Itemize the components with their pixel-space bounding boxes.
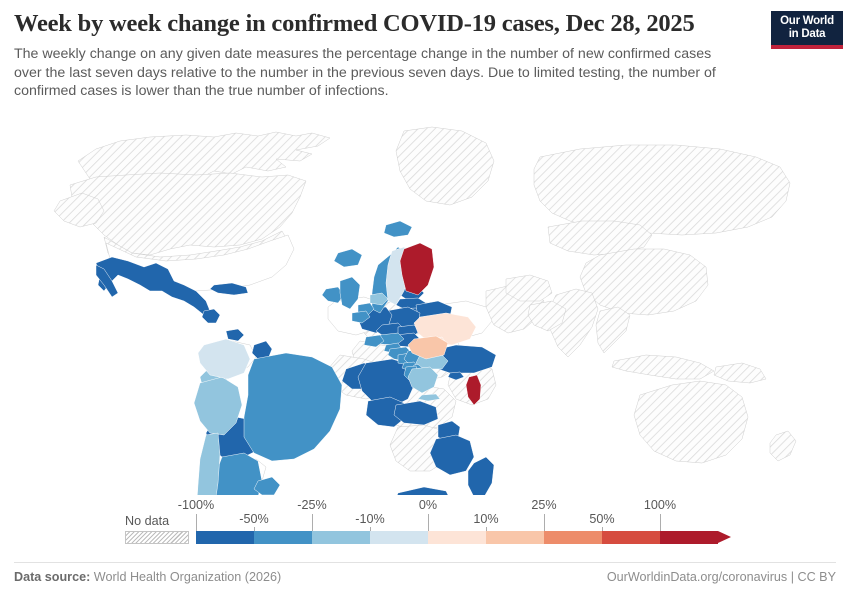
license-note[interactable]: OurWorldinData.org/coronavirus | CC BY	[607, 570, 836, 584]
legend-tick-6	[544, 514, 545, 531]
legend-tick-2	[312, 514, 313, 531]
country-mongolia-china	[580, 249, 708, 315]
legend-tick-1	[254, 527, 255, 531]
country-south-africa	[392, 487, 452, 495]
country-southeast-asia	[596, 307, 630, 353]
legend-label-5: 10%	[473, 512, 498, 526]
legend-open-end-arrow	[718, 531, 731, 543]
legend-label-1: -50%	[239, 512, 268, 526]
country-chile	[192, 433, 220, 495]
country-panama	[226, 329, 244, 341]
legend-tick-4	[428, 514, 429, 531]
country-tanzania	[430, 435, 474, 475]
legend-bin-0[interactable]	[196, 531, 254, 544]
legend-no-data-label: No data	[125, 514, 169, 528]
country-iceland	[334, 249, 362, 267]
legend-label-2: -25%	[297, 498, 326, 512]
legend-tick-0	[196, 514, 197, 531]
country-new-zealand	[770, 431, 796, 461]
page-subtitle: The weekly change on any given date meas…	[14, 45, 742, 101]
legend-tick-7	[602, 527, 603, 531]
legend-tick-8	[660, 514, 661, 531]
legend-label-3: -10%	[355, 512, 384, 526]
map-legend: No data -100%-50%-25%-10%0%10%25%50%100%	[0, 498, 850, 554]
country-papua-new-guinea	[714, 363, 766, 383]
legend-label-7: 50%	[589, 512, 614, 526]
choropleth-map[interactable]	[0, 105, 850, 495]
page-title: Week by week change in confirmed COVID-1…	[14, 9, 754, 39]
legend-bin-4[interactable]	[428, 531, 486, 544]
country-finland	[400, 243, 434, 295]
logo-line-2: in Data	[789, 29, 826, 41]
legend-label-6: 25%	[531, 498, 556, 512]
legend-label-8: 100%	[644, 498, 676, 512]
legend-bin-7[interactable]	[602, 531, 660, 544]
country-russia	[534, 145, 790, 235]
data-source-value: World Health Organization (2026)	[94, 570, 281, 584]
country-indonesia	[612, 355, 714, 379]
legend-label-0: -100%	[178, 498, 214, 512]
country-australia	[634, 381, 748, 463]
legend-bin-5[interactable]	[486, 531, 544, 544]
legend-tick-5	[486, 527, 487, 531]
footer-divider	[14, 562, 836, 563]
country-brazil	[244, 353, 342, 461]
country-iran	[506, 275, 552, 301]
country-madagascar	[468, 457, 494, 495]
legend-tick-3	[370, 527, 371, 531]
country-greenland	[396, 127, 494, 205]
legend-bin-3[interactable]	[370, 531, 428, 544]
legend-no-data-swatch[interactable]	[125, 531, 189, 544]
data-source: Data source: World Health Organization (…	[14, 570, 281, 584]
legend-bin-8[interactable]	[660, 531, 718, 544]
legend-bin-6[interactable]	[544, 531, 602, 544]
legend-label-4: 0%	[419, 498, 437, 512]
legend-bin-1[interactable]	[254, 531, 312, 544]
country-guatemala-belize	[202, 309, 220, 323]
legend-bin-2[interactable]	[312, 531, 370, 544]
world-map-svg[interactable]	[0, 105, 850, 495]
our-world-in-data-logo[interactable]: Our World in Data	[771, 11, 843, 49]
logo-line-1: Our World	[780, 16, 834, 28]
country-svalbard	[384, 221, 412, 237]
data-source-prefix: Data source:	[14, 570, 90, 584]
